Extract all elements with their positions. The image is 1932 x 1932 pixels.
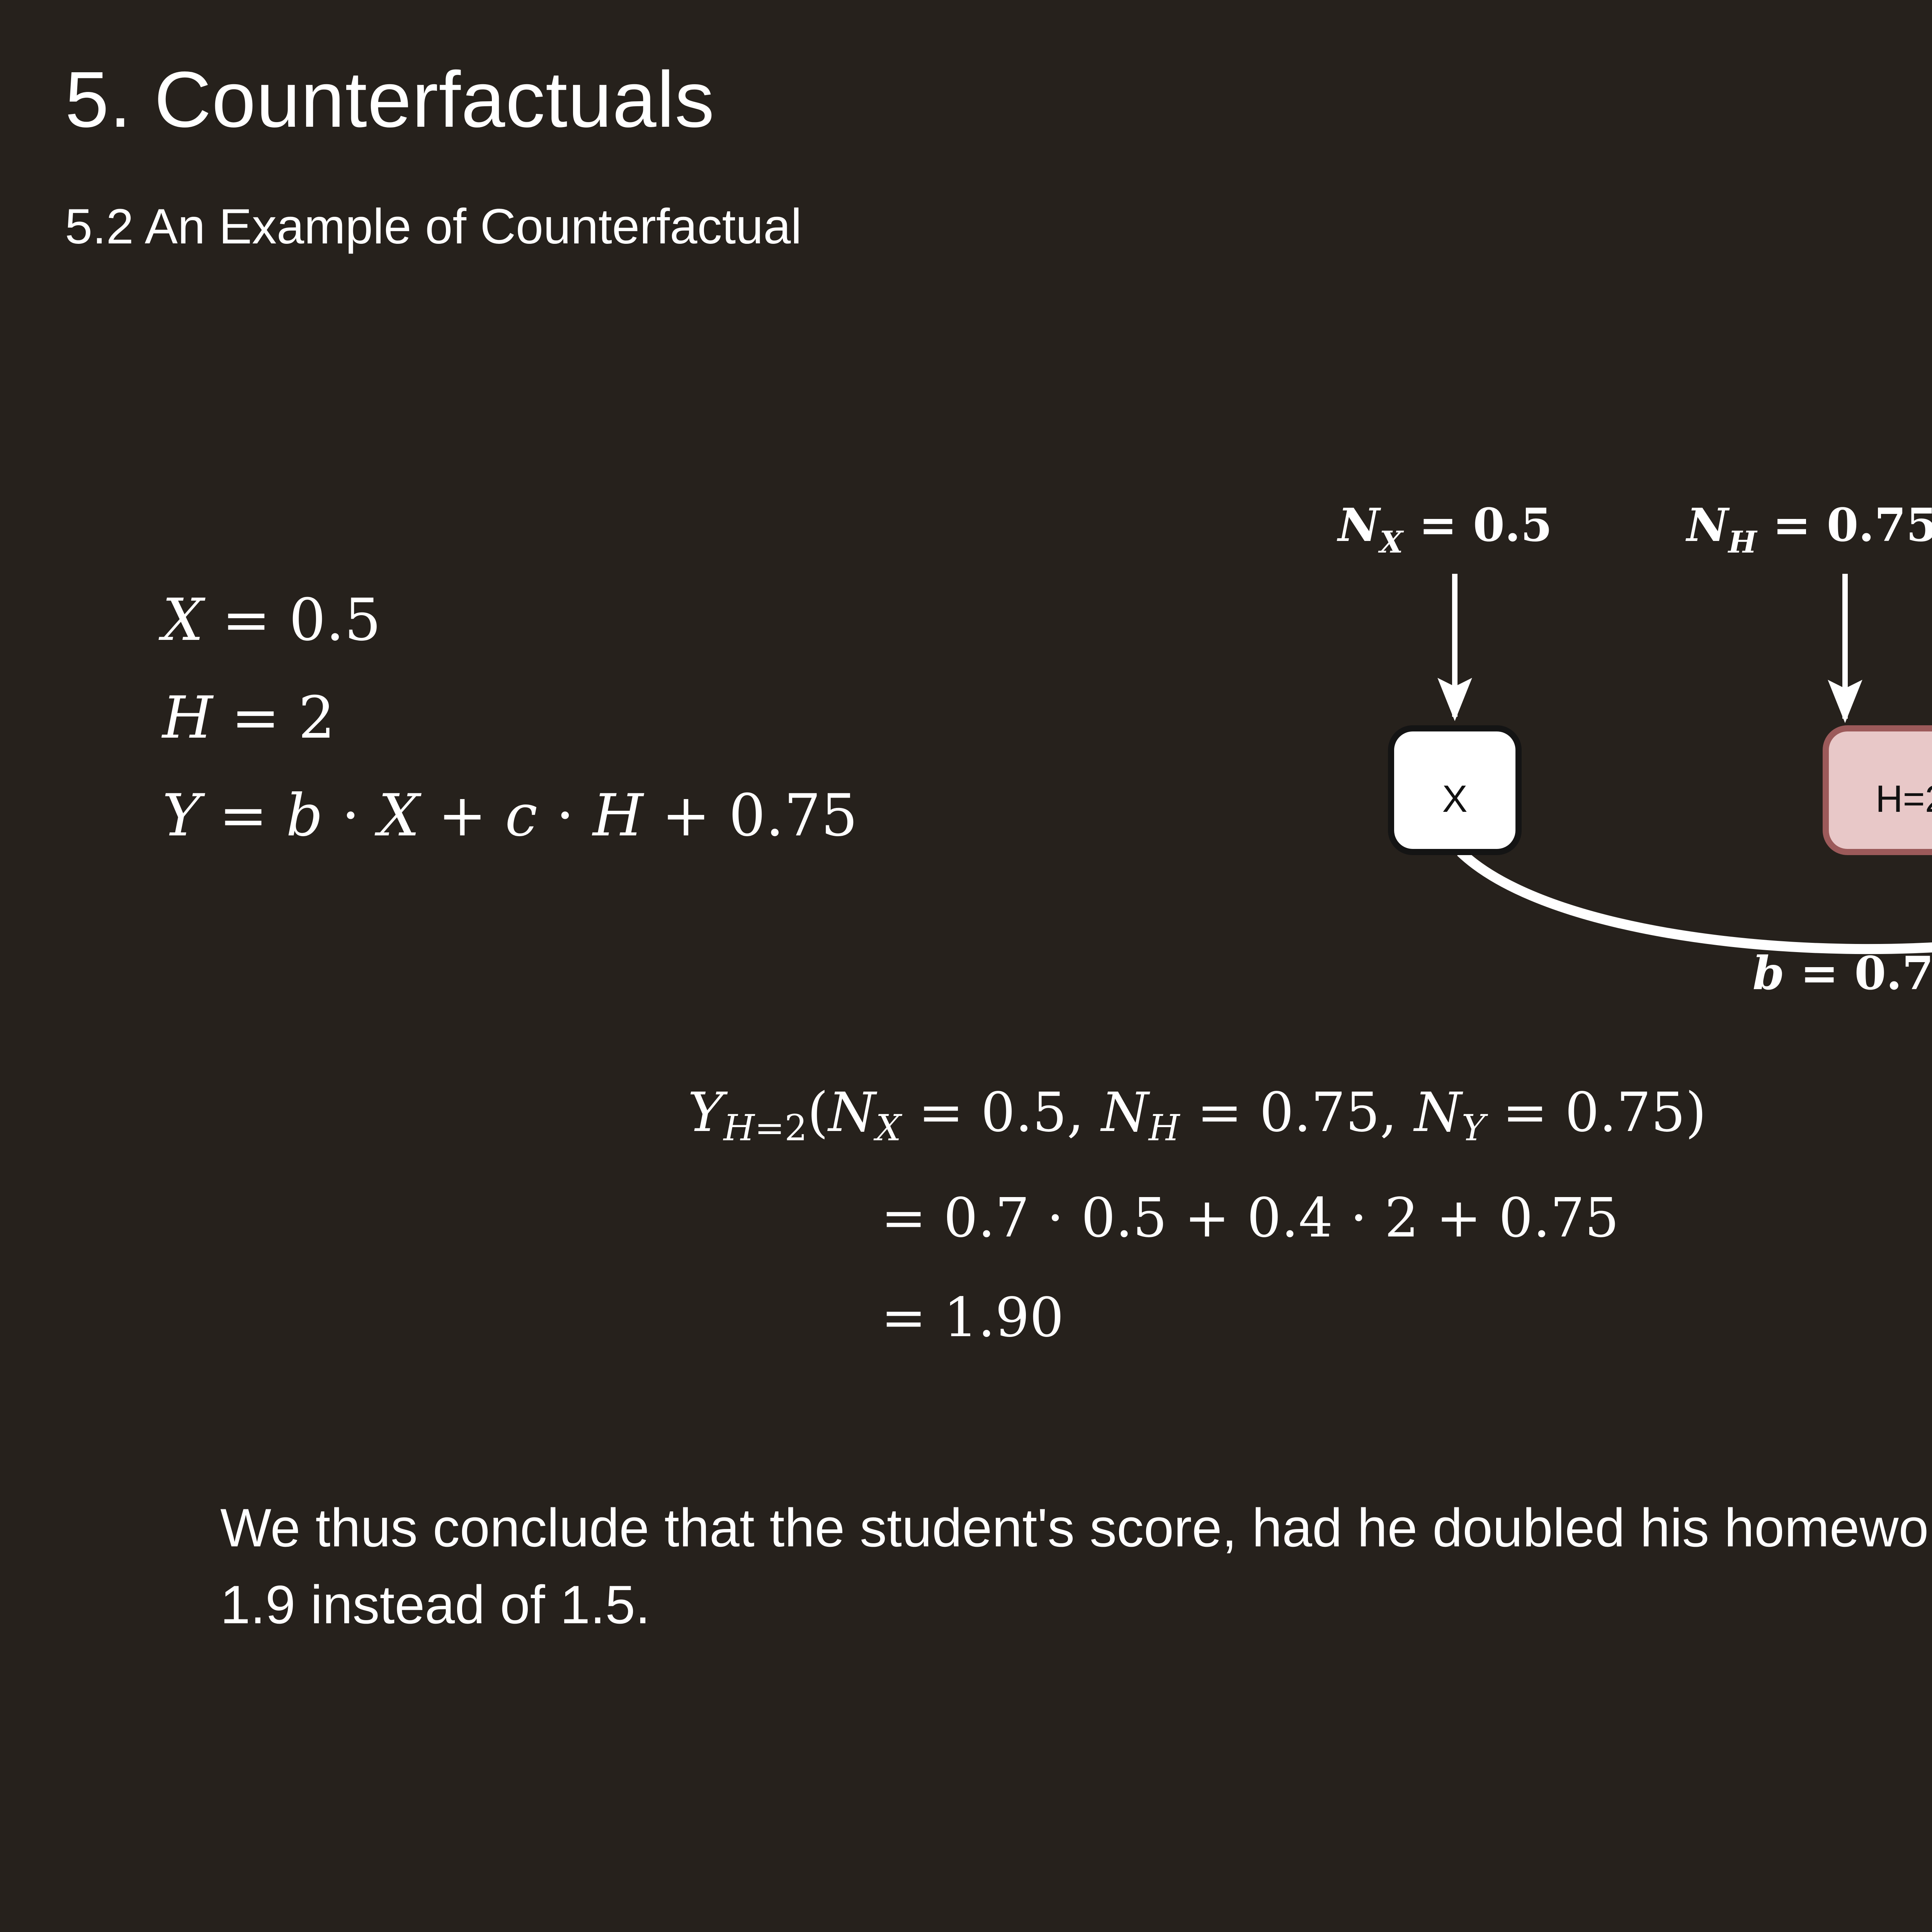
slide-root: 5. Counterfactuals 5.2 An Example of Cou… xyxy=(0,0,1932,1932)
structural-equations: X = 0.5 H = 2 Y = b · X + c · H + 0.75 xyxy=(162,591,858,884)
node-h[interactable]: H=2 xyxy=(1826,728,1932,852)
node-h-label: H=2 xyxy=(1876,777,1932,820)
page-subtitle: 5.2 An Example of Counterfactual xyxy=(65,201,802,253)
page-title: 5. Counterfactuals xyxy=(65,58,715,141)
node-x-label: X xyxy=(1442,777,1467,820)
equation-h: H = 2 xyxy=(162,689,858,747)
conclusion-paragraph: We thus conclude that the student's scor… xyxy=(220,1490,1932,1643)
edge-label-b: b = 0.7 xyxy=(1753,946,1932,1000)
noise-label-nh: NH = 0.75 xyxy=(1685,498,1932,560)
equation-y: Y = b · X + c · H + 0.75 xyxy=(162,787,858,845)
derivation-line-1: YH=2(NX = 0.5, NH = 0.75, NY = 0.75) xyxy=(688,1086,1932,1146)
equation-x: X = 0.5 xyxy=(162,591,858,649)
derivation-line-3: = 1.90 xyxy=(688,1291,1932,1345)
counterfactual-derivation: YH=2(NX = 0.5, NH = 0.75, NY = 0.75) = 0… xyxy=(688,1086,1932,1345)
edge-b-x-to-y xyxy=(1461,852,1932,949)
noise-label-nx: NX = 0.5 xyxy=(1337,498,1553,560)
node-x[interactable]: X xyxy=(1391,728,1519,852)
causal-diagram: NX = 0.5 NH = 0.75 NY = 0.75 b = 0.7 c =… xyxy=(1275,502,1932,1024)
derivation-line-2: = 0.7 · 0.5 + 0.4 · 2 + 0.75 xyxy=(688,1191,1932,1245)
